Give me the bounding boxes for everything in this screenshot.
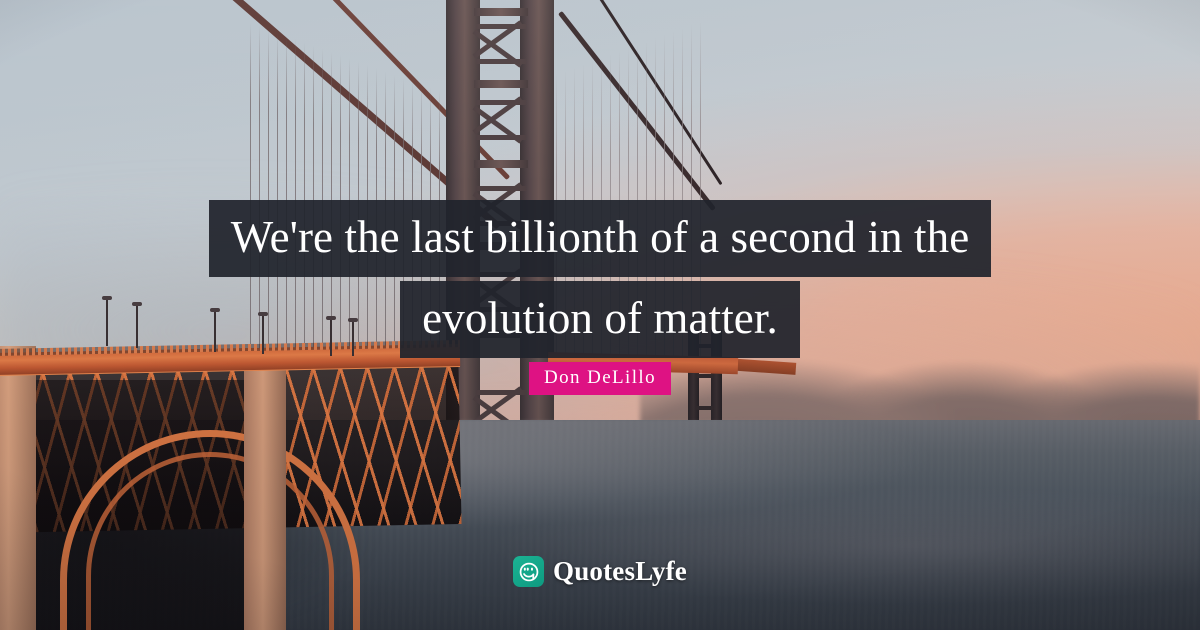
brand-watermark: QuotesLyfe — [0, 556, 1200, 587]
brand-name-text: QuotesLyfe — [553, 556, 687, 587]
quote-text-block: We're the last billionth of a second in … — [0, 200, 1200, 358]
quote-line-text: evolution of matter. — [400, 281, 800, 358]
quote-card: We're the last billionth of a second in … — [0, 0, 1200, 630]
author-name-badge: Don DeLillo — [529, 362, 671, 395]
author-attribution: Don DeLillo — [0, 362, 1200, 395]
overlay-content: We're the last billionth of a second in … — [0, 0, 1200, 630]
quote-line: We're the last billionth of a second in … — [0, 200, 1200, 277]
quote-line-text: We're the last billionth of a second in … — [209, 200, 992, 277]
quote-smiley-icon — [513, 556, 544, 587]
quote-line: evolution of matter. — [0, 281, 1200, 358]
